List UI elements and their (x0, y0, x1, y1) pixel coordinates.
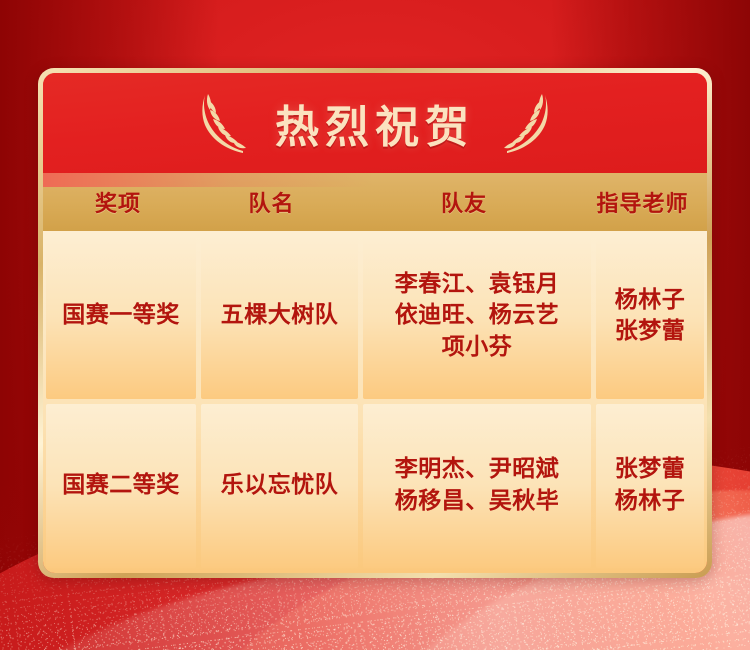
cell-members: 李明杰、尹昭斌 杨移昌、吴秋毕 (363, 404, 591, 569)
gold-frame-card: 热烈祝贺 奖项 队名 (38, 68, 712, 578)
table-header-award: 奖项 (43, 173, 193, 231)
cell-award: 国赛一等奖 (46, 234, 196, 399)
member-line: 李春江、袁钰月 (395, 269, 560, 301)
member-line: 项小芬 (442, 332, 513, 364)
member-line: 依迪旺、杨云艺 (395, 300, 560, 332)
table-header-row: 奖项 队名 队友 指导老师 (43, 173, 707, 231)
table-header-advisor: 指导老师 (578, 173, 707, 231)
cell-members: 李春江、袁钰月 依迪旺、杨云艺 项小芬 (363, 234, 591, 399)
page-title: 热烈祝贺 (275, 91, 475, 155)
card-inner: 热烈祝贺 奖项 队名 (43, 73, 707, 573)
laurel-branch-left-icon (199, 91, 255, 155)
title-band: 热烈祝贺 (43, 73, 707, 173)
table-header-team: 队名 (193, 173, 350, 231)
advisor-line: 杨林子 (615, 486, 686, 518)
cell-advisors: 杨林子 张梦蕾 (596, 234, 704, 399)
table-row: 国赛一等奖 五棵大树队 李春江、袁钰月 依迪旺、杨云艺 项小芬 杨林子 张梦蕾 (46, 234, 704, 399)
cell-award: 国赛二等奖 (46, 404, 196, 569)
advisor-line: 张梦蕾 (615, 316, 686, 348)
congratulation-poster: 热烈祝贺 奖项 队名 (0, 0, 750, 650)
member-line: 杨移昌、吴秋毕 (395, 486, 560, 518)
laurel-branch-right-icon (495, 91, 551, 155)
table-row: 国赛二等奖 乐以忘忧队 李明杰、尹昭斌 杨移昌、吴秋毕 张梦蕾 杨林子 (46, 404, 704, 569)
cell-advisors: 张梦蕾 杨林子 (596, 404, 704, 569)
advisor-line: 杨林子 (615, 285, 686, 317)
cell-team: 五棵大树队 (201, 234, 358, 399)
member-line: 李明杰、尹昭斌 (395, 454, 560, 486)
table-body: 国赛一等奖 五棵大树队 李春江、袁钰月 依迪旺、杨云艺 项小芬 杨林子 张梦蕾 … (43, 231, 707, 573)
cell-team: 乐以忘忧队 (201, 404, 358, 569)
table-header-members: 队友 (350, 173, 578, 231)
advisor-line: 张梦蕾 (615, 454, 686, 486)
